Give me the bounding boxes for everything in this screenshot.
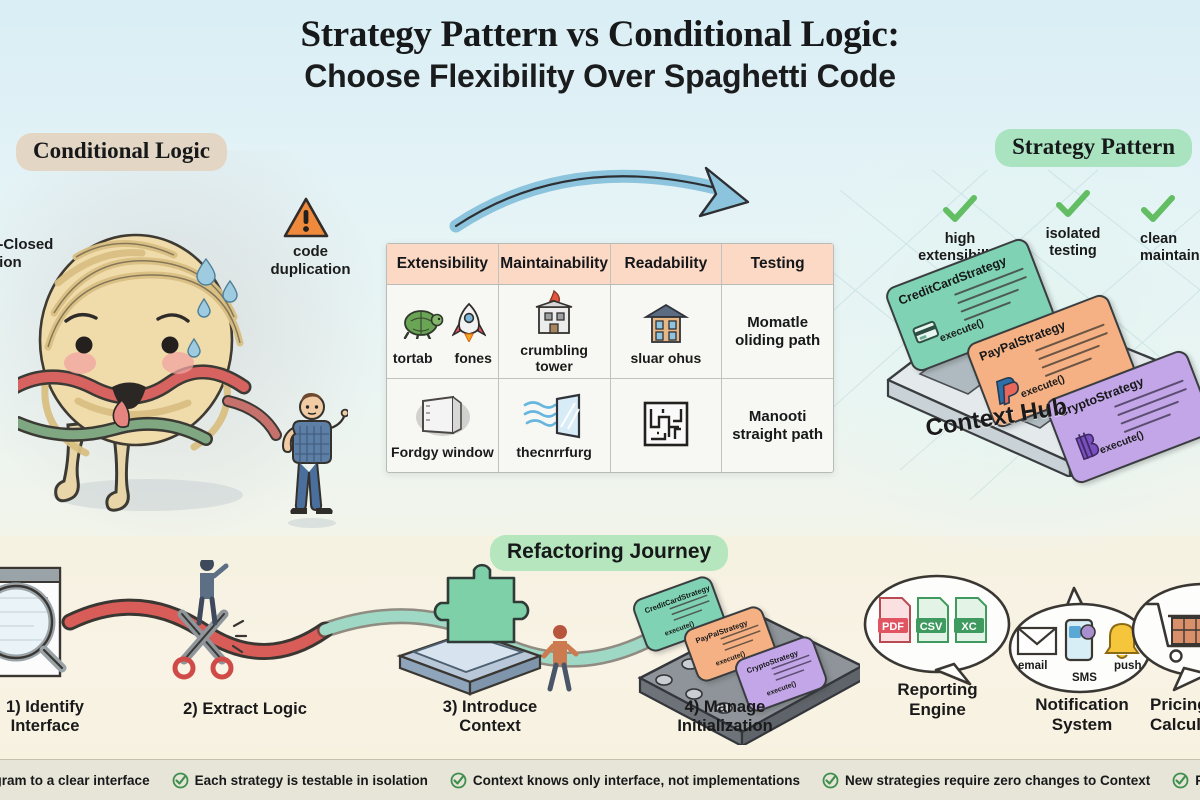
use-case-label-notification-system: Notification System	[1012, 695, 1152, 736]
svg-text:PDF: PDF	[882, 621, 904, 633]
cell-text-line-1: Momatle	[747, 314, 808, 331]
notification-item-email-label: email	[1018, 660, 1047, 672]
cell-testing-strategy: Manooti straight path	[722, 379, 833, 472]
title-line-2: Choose Flexibility Over Spaghetti Code	[0, 58, 1200, 95]
cell-maintainability-strategy: thecnrrfurg	[499, 379, 611, 472]
journey-step-2-number: 2)	[183, 700, 198, 718]
cell-testing-conditional: Momatle oliding path	[722, 285, 833, 378]
column-header-extensibility: Extensibility	[387, 244, 499, 284]
check-icon	[1055, 190, 1091, 220]
envelope-icon	[1018, 628, 1056, 654]
table-row: Fordgy window	[387, 379, 833, 472]
notification-item-sms-label: SMS	[1072, 672, 1097, 684]
rocket-icon	[452, 302, 486, 342]
benefit-label-line-1: high	[945, 231, 976, 247]
cell-caption-clear-window: thecnrrfurg	[516, 444, 591, 460]
curved-arrow-right-icon	[448, 160, 778, 238]
cell-readability-strategy	[611, 379, 723, 472]
use-case-line-1: Pricing	[1150, 695, 1200, 714]
journey-step-1-label: 1) Identify Interface	[0, 698, 110, 737]
page-title: Strategy Pattern vs Conditional Logic: C…	[0, 14, 1200, 95]
journey-step-3-line-2: Context	[459, 717, 520, 735]
cell-extensibility-conditional: tortab fones	[387, 285, 499, 378]
journey-step-4-line-1: Manage	[704, 698, 765, 716]
checklist-item-testable-isolation: Each strategy is testable in isolation	[172, 772, 428, 789]
open-closed-violation-label: Open-Closed violation	[0, 236, 80, 271]
cell-extensibility-strategy: Fordgy window	[387, 379, 499, 472]
cell-maintainability-conditional: crumbling tower	[499, 285, 611, 378]
code-duplication-line-1: code	[293, 243, 328, 260]
cell-caption-house: sluar ohus	[630, 350, 701, 366]
use-case-bubble-pricing	[1128, 578, 1200, 693]
section-badge-strategy-pattern: Strategy Pattern	[995, 129, 1192, 167]
code-duplication-line-2: duplication	[271, 261, 351, 278]
checklist-text: Program to a clear interface	[0, 773, 150, 788]
maze-icon	[642, 400, 690, 448]
foggy-window-icon	[413, 393, 471, 439]
journey-step-3-label: 3) Introduce Context	[420, 698, 560, 737]
check-circle-icon	[1172, 772, 1189, 789]
context-hub-platform: CreditCardStrategy execute() PayPalStrat…	[880, 262, 1200, 477]
use-case-line-2: Calculator	[1150, 715, 1200, 734]
use-case-label-pricing-calculator: Pricing Calculator	[1150, 695, 1200, 736]
cell-text-line-1: Manooti	[749, 408, 807, 425]
check-icon	[942, 195, 978, 225]
svg-text:CSV: CSV	[920, 621, 943, 633]
journey-step-2-line-1: Extract Logic	[202, 700, 307, 718]
table-row: tortab fones crumbling tower	[387, 285, 833, 379]
use-case-line-1: Reporting	[897, 680, 977, 699]
checklist-item-composition-over-inheritance: Prefer composition over inheritance	[1172, 772, 1200, 789]
check-circle-icon	[822, 772, 839, 789]
comparison-table-header-row: Extensibility Maintainability Readabilit…	[387, 244, 833, 285]
infographic-canvas: Strategy Pattern vs Conditional Logic: C…	[0, 0, 1200, 800]
cell-caption-foggy-window: Fordgy window	[391, 444, 494, 460]
benefit-label-line-1: isolated	[1046, 226, 1101, 242]
cell-caption-crumbling-tower: crumbling tower	[501, 342, 608, 374]
crumbling-tower-icon	[530, 289, 578, 339]
cell-caption-turtle: tortab	[393, 350, 433, 366]
cell-caption-rocket: fones	[455, 350, 492, 366]
magnifier-document-icon	[0, 568, 62, 676]
warning-triangle-icon	[282, 196, 330, 240]
benefit-clean-maintainability: clean maintainability	[1140, 195, 1200, 265]
journey-step-4-label: 4) Manage Initialization	[650, 698, 800, 737]
bottom-checklist-bar: Program to a clear interface Each strate…	[0, 759, 1200, 800]
checklist-item-clear-interface: Program to a clear interface	[0, 772, 150, 789]
strategy-card-method: execute()	[1098, 429, 1145, 457]
puzzle-piece-icon	[400, 565, 540, 694]
column-header-readability: Readability	[611, 244, 723, 284]
checklist-item-zero-changes: New strategies require zero changes to C…	[822, 772, 1150, 789]
svg-text:XC: XC	[961, 621, 976, 633]
use-case-bubble-reporting: PDF CSV XC	[862, 572, 1012, 687]
journey-step-4-line-2: Initialization	[677, 717, 772, 735]
journey-step-3-line-1: Introduce	[462, 698, 537, 716]
checklist-text: Context knows only interface, not implem…	[473, 773, 800, 788]
cell-text-line-2: oliding path	[735, 332, 820, 349]
journey-step-1-number: 1)	[6, 698, 21, 716]
check-icon	[1140, 195, 1176, 225]
cell-text-line-2: straight path	[732, 426, 823, 443]
journey-step-1-line-1: Identify	[25, 698, 84, 716]
use-case-line-1: Notification	[1035, 695, 1129, 714]
benefit-label-line-1: clean	[1140, 231, 1177, 247]
checklist-text: New strategies require zero changes to C…	[845, 773, 1150, 788]
turtle-icon	[398, 305, 444, 339]
comparison-table: Extensibility Maintainability Readabilit…	[386, 243, 834, 473]
section-badge-conditional-logic: Conditional Logic	[16, 133, 227, 171]
checklist-text: Prefer composition over inheritance	[1195, 773, 1200, 788]
checklist-item-context-knows-interface: Context knows only interface, not implem…	[450, 772, 800, 789]
use-case-line-2: System	[1052, 715, 1112, 734]
title-line-1: Strategy Pattern vs Conditional Logic:	[0, 14, 1200, 55]
use-case-line-2: Engine	[909, 700, 966, 719]
journey-step-2-label: 2) Extract Logic	[170, 700, 320, 719]
journey-step-3-number: 3)	[443, 698, 458, 716]
checklist-text: Each strategy is testable in isolation	[195, 773, 428, 788]
column-header-testing: Testing	[722, 244, 833, 284]
confused-person-icon	[276, 390, 348, 530]
check-circle-icon	[450, 772, 467, 789]
code-duplication-label: code duplication	[248, 243, 373, 278]
cell-readability-conditional: sluar ohus	[611, 285, 723, 378]
benefit-isolated-testing: isolated testing	[1018, 190, 1128, 260]
benefit-label-line-2: testing	[1049, 243, 1097, 259]
clear-window-breeze-icon	[523, 393, 585, 439]
house-icon	[642, 297, 690, 347]
phone-icon	[1066, 620, 1095, 660]
use-case-label-reporting-engine: Reporting Engine	[870, 680, 1005, 721]
check-circle-icon	[172, 772, 189, 789]
journey-step-1-line-2: Interface	[11, 717, 80, 735]
column-header-maintainability: Maintainability	[499, 244, 611, 284]
journey-step-4-number: 4)	[685, 698, 700, 716]
